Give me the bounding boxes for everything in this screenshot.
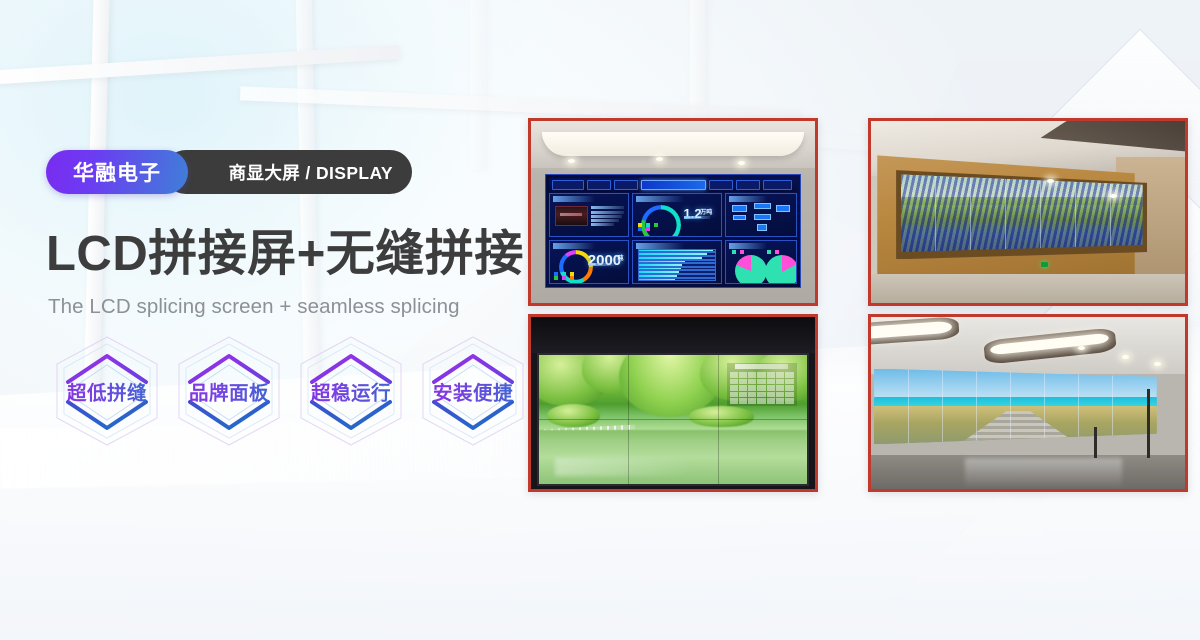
feature-badge-list: 超低拼缝 品牌面板 超稳运行	[48, 332, 538, 452]
card-title-bar	[729, 243, 767, 249]
feature-badge-label: 安装便捷	[414, 377, 532, 406]
flow-node	[732, 205, 747, 212]
ranking-bar-row	[638, 278, 716, 282]
card-title-bar	[729, 196, 767, 202]
exhibition-hall-scene	[871, 317, 1185, 489]
feature-badge-label: 超低拼缝	[48, 377, 166, 406]
ceiling	[531, 317, 815, 353]
panel-seam	[1005, 173, 1006, 253]
brand-category-pill: 商显大屏 / DISPLAY	[164, 150, 412, 194]
panel-seam	[908, 369, 909, 445]
dashboard-tab	[614, 180, 638, 191]
product-photo-grid: 1.2 万吨	[528, 118, 1188, 492]
photo-control-room-dashboard: 1.2 万吨	[528, 118, 818, 306]
donut-chart	[641, 205, 681, 237]
card-legend-row	[554, 276, 574, 280]
panel-seam	[970, 173, 971, 253]
panel-seam	[1112, 369, 1113, 445]
dashboard-card-pie-stats	[725, 240, 796, 284]
card-thumbnail	[555, 206, 588, 226]
panel-seam	[935, 173, 936, 253]
panel-seam	[942, 369, 943, 445]
calendar-header	[735, 364, 788, 370]
card-kpi-unit: 吨	[618, 253, 624, 262]
card-legend-row	[638, 223, 658, 227]
water-reflection	[555, 458, 695, 476]
card-text-line	[591, 223, 614, 226]
panel-seam	[539, 419, 808, 420]
floor	[871, 274, 1185, 303]
flow-node	[754, 203, 771, 209]
calendar-grid	[730, 372, 794, 403]
panel-seam	[628, 355, 629, 483]
card-legend-row	[767, 250, 779, 254]
ceiling-curve	[542, 132, 803, 156]
page-subtitle: The LCD splicing screen + seamless splic…	[48, 295, 460, 319]
photo-beach-boardwalk-video-wall	[868, 314, 1188, 492]
panel-seam	[1078, 369, 1079, 445]
panel-seam	[1040, 173, 1041, 253]
panel-seam	[1010, 369, 1011, 445]
card-text-line	[684, 216, 710, 219]
brand-badge: 商显大屏 / DISPLAY 华融电子	[46, 150, 188, 194]
dashboard-tab	[736, 180, 760, 191]
dark-room-scene	[531, 317, 815, 489]
feature-badge-0: 超低拼缝	[48, 332, 166, 450]
panel-seam	[1075, 173, 1076, 253]
ceiling-light	[1154, 362, 1161, 366]
feature-badge-label: 品牌面板	[170, 377, 288, 406]
dashboard-title	[641, 180, 706, 191]
banner-text-column: 商显大屏 / DISPLAY 华融电子 LCD拼接屏+无缝拼接 The LCD …	[46, 0, 546, 640]
photo-corridor-solar-video-wall	[868, 118, 1188, 306]
panel-seam	[976, 369, 977, 445]
ceiling-light	[1110, 194, 1117, 198]
video-wall-screen	[874, 369, 1157, 445]
card-title-bar	[636, 196, 683, 202]
video-wall-screen	[537, 353, 810, 485]
card-text-line	[591, 206, 624, 209]
photo-willow-lake-video-wall	[528, 314, 818, 492]
panel-seam	[1110, 173, 1111, 253]
card-text-line	[591, 215, 622, 218]
brand-name-pill: 华融电子	[46, 150, 188, 194]
pie-chart	[735, 255, 767, 284]
dashboard-timestamp	[552, 180, 583, 191]
feature-badge-2: 超稳运行	[292, 332, 410, 450]
dashboard-tab	[587, 180, 611, 191]
control-room-scene: 1.2 万吨	[531, 121, 815, 303]
ceiling-light	[1122, 355, 1129, 359]
flow-node	[776, 205, 790, 212]
ranking-bar-list	[638, 249, 716, 282]
dashboard-card-grid: 1.2 万吨	[549, 193, 797, 285]
panel-seam	[1044, 369, 1045, 445]
card-legend-row	[638, 227, 650, 231]
feature-badge-1: 品牌面板	[170, 332, 288, 450]
page-title: LCD拼接屏+无缝拼接	[46, 228, 524, 282]
brand-name-label: 华融电子	[73, 157, 161, 187]
support-post	[1147, 389, 1150, 458]
card-legend-row	[732, 250, 744, 254]
card-text-line	[589, 263, 614, 266]
calendar-overlay	[727, 363, 797, 407]
dashboard-card-flowchart	[725, 193, 796, 237]
card-title-bar	[553, 243, 595, 249]
flow-node	[757, 224, 767, 231]
card-kpi-unit: 万吨	[700, 207, 712, 216]
shrub	[689, 406, 753, 427]
dashboard-tab	[763, 180, 792, 191]
floor-reflection	[965, 458, 1122, 489]
brand-category-label: 商显大屏 / DISPLAY	[229, 160, 393, 185]
panel-seam	[718, 355, 719, 483]
card-text-line	[591, 219, 619, 222]
dashboard-card-ranking	[632, 240, 722, 284]
shrub	[547, 404, 601, 427]
dashboard-screen: 1.2 万吨	[545, 174, 801, 289]
dashboard-card-capacity: 2000 吨	[549, 240, 629, 284]
dashboard-tab	[709, 180, 733, 191]
support-post	[1094, 427, 1097, 458]
dashboard-card-donut-stats: 1.2 万吨	[632, 193, 722, 237]
dashboard-card-overview	[549, 193, 629, 237]
feature-badge-3: 安装便捷	[414, 332, 532, 450]
exit-sign-icon	[1041, 262, 1048, 267]
dashboard-topbar	[549, 178, 797, 193]
flow-node	[754, 214, 771, 220]
video-wall-screen	[901, 173, 1143, 253]
flow-node	[733, 215, 746, 220]
card-title-bar	[553, 196, 595, 202]
corridor-scene	[871, 121, 1185, 303]
card-kpi-value: 2000	[588, 252, 621, 269]
feature-badge-label: 超稳运行	[292, 377, 410, 406]
pie-chart	[765, 255, 797, 284]
solar-panel-array	[901, 173, 1143, 253]
card-text-line	[591, 211, 624, 214]
